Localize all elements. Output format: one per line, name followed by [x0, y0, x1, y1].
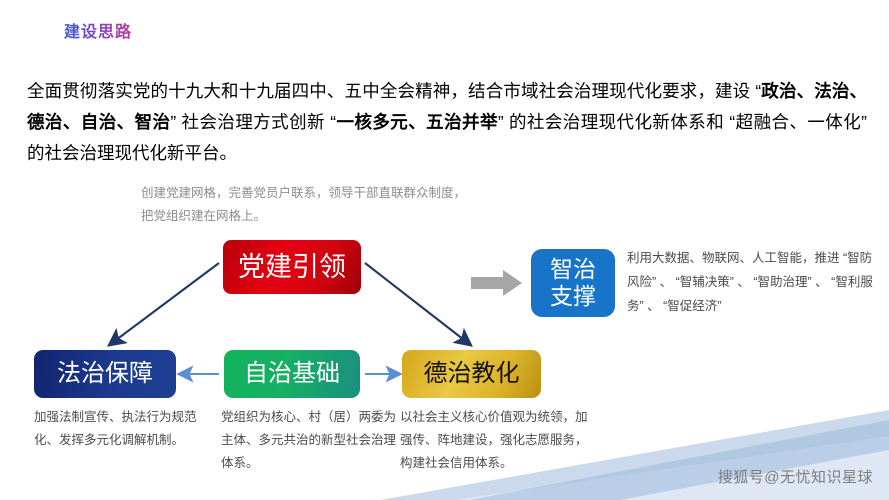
watermark: 搜狐号@无忧知识星球	[718, 466, 873, 487]
node-smart-support[interactable]: 智治 支撑	[531, 249, 615, 317]
caption-self-governance: 党组织为核心、村（居）两委为主体、多元共治的新型社会治理体系。	[221, 406, 396, 475]
intro-bold-2: 一核多元、五治并举	[336, 112, 498, 132]
node-moral-education[interactable]: 德治教化	[402, 350, 541, 398]
slide-canvas: 建设思路 全面贯彻落实党的十九大和十九届四中、五中全会精神，结合市域社会治理现代…	[0, 0, 889, 500]
node-self-governance-label: 自治基础	[244, 361, 340, 388]
intro-paragraph: 全面贯彻落实党的十九大和十九届四中、五中全会精神，结合市域社会治理现代化要求，建…	[27, 76, 867, 169]
node-rule-of-law-label: 法治保障	[57, 361, 153, 388]
block-arrow-to-smart	[471, 270, 522, 296]
caption-smart-support: 利用大数据、物联网、人工智能，推进 “智防风险” 、 “智辅决策” 、 “智助治…	[627, 246, 877, 318]
node-moral-education-label: 德治教化	[424, 361, 520, 388]
note-party-grid: 创建党建网格，完善党员户联系，领导干部直联群众制度，把党组织建在网格上。	[141, 182, 471, 228]
caption-rule-of-law: 加强法制宣传、执法行为规范化、发挥多元化调解机制。	[34, 406, 204, 452]
arrow-party-to-moral	[365, 263, 468, 343]
node-smart-support-line1: 智治	[550, 256, 596, 283]
arrow-party-to-law	[112, 263, 219, 343]
node-party-leadership-label: 党建引领	[238, 252, 346, 282]
node-self-governance[interactable]: 自治基础	[224, 350, 360, 398]
page-title: 建设思路	[64, 18, 132, 42]
node-rule-of-law[interactable]: 法治保障	[34, 350, 176, 398]
intro-seg-2: ” 社会治理方式创新 “	[170, 112, 336, 132]
caption-moral-education: 以社会主义核心价值观为统领，加强传、阵地建设，强化志愿服务，构建社会信用体系。	[400, 406, 595, 475]
node-smart-support-line2: 支撑	[550, 283, 596, 310]
node-party-leadership[interactable]: 党建引领	[223, 240, 361, 294]
governance-diagram: 创建党建网格，完善党员户联系，领导干部直联群众制度，把党组织建在网格上。 党建引…	[0, 160, 889, 480]
intro-seg-1: 全面贯彻落实党的十九大和十九届四中、五中全会精神，结合市域社会治理现代化要求，建…	[27, 81, 761, 101]
